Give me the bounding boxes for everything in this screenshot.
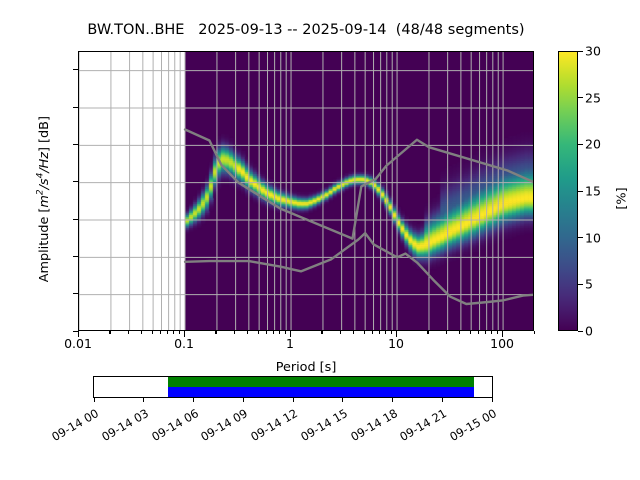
x-tick-minor [459,331,460,334]
timeline-tick-mark [193,398,194,402]
x-tick-minor [364,331,365,334]
x-tick-label: 0.01 [64,336,92,351]
ppsd-figure: BW.TON..BHE 2025-09-13 -- 2025-09-14 (48… [0,0,640,480]
x-tick-minor [160,331,161,334]
y-tick-mark [73,219,79,220]
peterson-noise-model-curves [79,52,534,331]
y-axis-label: Amplitude [m2/s4/Hz] [dB] [36,69,52,329]
x-tick-minor [173,331,174,334]
x-tick-minor [427,331,428,334]
colorbar-tick-label: 20 [585,137,601,152]
timeline-tick-label: 09-14 00 [40,406,101,449]
x-tick-minor [247,331,248,334]
timeline-tick-mark [492,398,493,402]
timeline-tick-mark [392,398,393,402]
x-tick-minor [167,331,168,334]
x-tick-minor [470,331,471,334]
x-tick-minor [179,331,180,334]
x-tick-minor [478,331,479,334]
x-tick-minor [321,331,322,334]
data-coverage-blue [168,387,474,397]
x-tick-label: 100 [490,336,514,351]
colorbar-label: [%] [615,169,630,229]
x-tick-minor [379,331,380,334]
x-tick-minor [215,331,216,334]
timeline-tick-label: 09-14 03 [90,406,151,449]
x-tick-minor [279,331,280,334]
colorbar-tick-label: 5 [585,277,593,292]
y-tick-mark [73,181,79,182]
colorbar-tick-mark [578,97,583,98]
colorbar[interactable] [558,51,578,331]
x-tick-minor [485,331,486,334]
y-axis-label-math: m2/s4/Hz [37,152,52,208]
timeline-tick-label: 09-14 12 [239,406,300,449]
colorbar-tick-label: 15 [585,184,601,199]
x-tick-minor [266,331,267,334]
colorbar-tick-mark [578,51,583,52]
x-tick-minor [152,331,153,334]
x-tick-minor [234,331,235,334]
timeline-tick-mark [293,398,294,402]
colorbar-tick-label: 25 [585,90,601,105]
y-tick-mark [73,256,79,257]
x-tick-minor [285,331,286,334]
colorbar-tick-mark [578,144,583,145]
timeline-tick-mark [243,398,244,402]
y-tick-mark [73,293,79,294]
x-tick-minor [446,331,447,334]
timeline-tick-label: 09-14 15 [289,406,350,449]
x-tick-minor [391,331,392,334]
y-tick-mark [73,107,79,108]
y-axis-label-suffix: ] [dB] [37,116,52,152]
y-tick-mark [73,69,79,70]
data-coverage-green [168,377,474,387]
timeline-tick-label: 09-14 18 [339,406,400,449]
page-title: BW.TON..BHE 2025-09-13 -- 2025-09-14 (48… [0,22,612,38]
timeline-tick-mark [94,398,95,402]
timeline-tick-label: 09-14 06 [140,406,201,449]
colorbar-tick-label: 10 [585,230,601,245]
y-axis-label-prefix: Amplitude [ [37,208,52,283]
timeline-tick-label: 09-14 09 [190,406,251,449]
colorbar-tick-mark [578,331,583,332]
x-tick-minor [258,331,259,334]
x-tick-minor [141,331,142,334]
x-tick-minor [491,331,492,334]
x-axis-label: Period [s] [78,360,534,375]
x-tick-minor [497,331,498,334]
timeline-tick-mark [442,398,443,402]
colorbar-tick-label: 30 [585,44,601,59]
x-tick-label: 0.1 [174,336,194,351]
colorbar-tick-mark [578,284,583,285]
timeline-tick-mark [342,398,343,402]
x-tick-minor [353,331,354,334]
x-tick-minor [385,331,386,334]
ppsd-plot-area[interactable] [78,51,534,331]
x-tick-minor [109,331,110,334]
timeline-tick-label: 09-14 21 [389,406,450,449]
data-coverage-timeline[interactable] [93,376,493,398]
colorbar-tick-label: 0 [585,324,593,339]
x-tick-minor [372,331,373,334]
y-tick-mark [73,144,79,145]
x-tick-minor [340,331,341,334]
colorbar-tick-mark [578,237,583,238]
x-tick-label: 10 [388,336,404,351]
x-tick-minor [273,331,274,334]
timeline-tick-mark [143,398,144,402]
colorbar-tick-mark [578,191,583,192]
colorbar-gradient [559,52,577,330]
x-tick-label: 1 [286,336,294,351]
x-tick-minor [128,331,129,334]
timeline-tick-label: 09-15 00 [438,406,499,449]
x-tick-minor [534,331,535,334]
